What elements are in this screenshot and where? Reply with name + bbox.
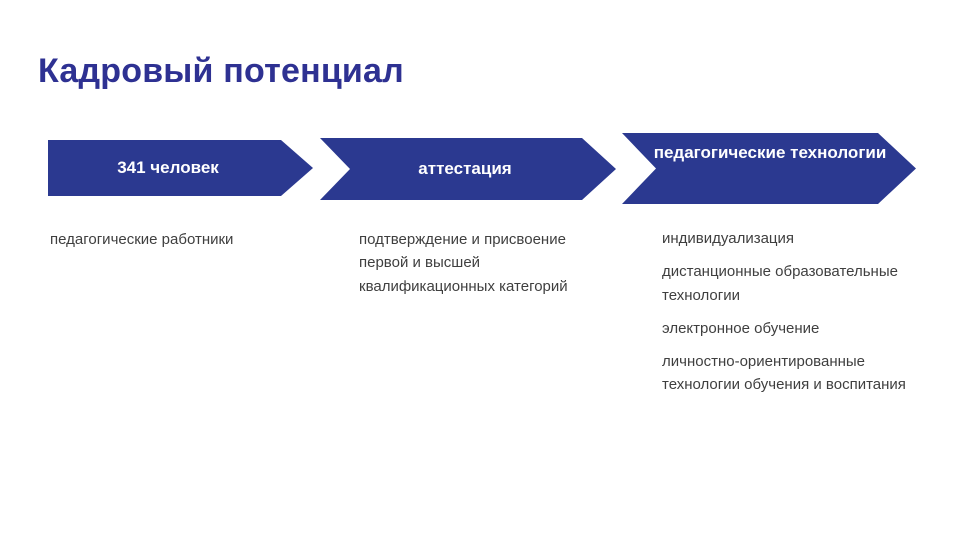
page-title: Кадровый потенциал (38, 51, 404, 92)
detail-item: подтверждение и присвоение первой и высш… (359, 228, 589, 298)
process-arrow-band: 341 человек аттестация педагогические те… (0, 0, 960, 220)
process-step-1-label: 341 человек (48, 157, 288, 178)
detail-item: индивидуализация (662, 227, 912, 250)
process-step-1-arrow (48, 140, 313, 196)
process-step-1-details: педагогические работники (50, 228, 300, 258)
detail-item: электронное обучение (662, 317, 912, 340)
process-step-3-arrow (622, 133, 916, 204)
process-step-3-label: педагогические технологии (650, 142, 890, 163)
process-step-3-details: индивидуализация дистанционные образоват… (662, 227, 912, 407)
process-step-2-label: аттестация (340, 158, 590, 179)
detail-item: педагогические работники (50, 228, 300, 251)
process-step-2-arrow (320, 138, 616, 200)
process-step-2-details: подтверждение и присвоение первой и высш… (359, 228, 589, 305)
slide-canvas: Кадровый потенциал 341 человек аттестаци… (0, 0, 960, 540)
detail-item: дистанционные образовательные технологии (662, 260, 912, 307)
detail-item: личностно-ориентированные технологии обу… (662, 350, 912, 397)
